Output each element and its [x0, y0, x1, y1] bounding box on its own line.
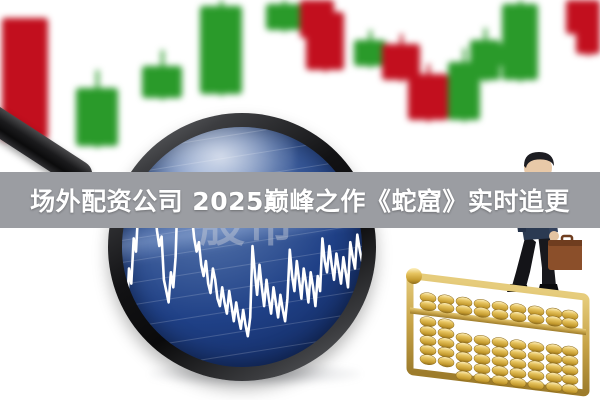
abacus-bead — [492, 356, 508, 368]
magnifier-lens: 股市 — [122, 127, 362, 367]
poster-canvas: 股市 — [0, 0, 600, 400]
abacus-bead — [562, 364, 578, 376]
abacus-bead — [510, 348, 526, 360]
candle-body — [576, 28, 600, 54]
abacus-bead — [438, 327, 454, 339]
abacus-bead — [528, 360, 544, 372]
abacus-bead — [420, 316, 436, 328]
abacus-bead — [456, 332, 472, 344]
abacus-bead — [456, 351, 472, 363]
caption-text: 场外配资公司 2025巅峰之作《蛇窟》实时追更 — [0, 172, 600, 228]
abacus-bead — [562, 374, 578, 386]
abacus-bead — [546, 372, 562, 384]
abacus-bead — [474, 334, 490, 346]
abacus-bead — [492, 365, 508, 377]
abacus-bead — [528, 341, 544, 353]
magnifier-rim: 股市 — [108, 113, 376, 381]
abacus-bead — [562, 345, 578, 357]
abacus-bead — [510, 358, 526, 370]
abacus-bead — [420, 354, 436, 366]
abacus-bead — [528, 369, 544, 381]
candle-body — [200, 6, 242, 94]
abacus-bead — [528, 350, 544, 362]
candle-body — [408, 74, 448, 120]
abacus-bead — [492, 337, 508, 349]
abacus-bead — [546, 343, 562, 355]
abacus-figure — [398, 268, 598, 400]
candle-body — [266, 4, 302, 30]
abacus-bead — [510, 339, 526, 351]
abacus-bead — [546, 353, 562, 365]
abacus-bead — [438, 318, 454, 330]
abacus-bead — [420, 344, 436, 356]
abacus-bead — [438, 346, 454, 358]
abacus-bead — [474, 344, 490, 356]
abacus-bead — [474, 353, 490, 365]
abacus-bead — [510, 367, 526, 379]
abacus-bead — [546, 362, 562, 374]
abacus-bead — [492, 346, 508, 358]
abacus-bead — [456, 361, 472, 373]
abacus-bead — [420, 335, 436, 347]
candle-body — [142, 66, 182, 98]
candle-body — [306, 12, 344, 70]
candle-body — [502, 4, 538, 80]
abacus-bead — [562, 355, 578, 367]
abacus-bead — [438, 356, 454, 368]
abacus-bead — [456, 342, 472, 354]
abacus-bead — [438, 337, 454, 349]
abacus-bead — [420, 325, 436, 337]
abacus-bead — [474, 363, 490, 375]
candle-body — [76, 88, 118, 146]
